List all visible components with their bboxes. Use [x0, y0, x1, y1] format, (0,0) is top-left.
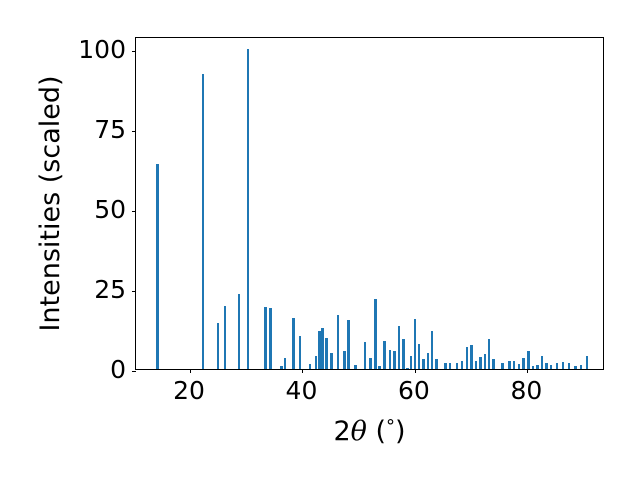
bar: [580, 365, 583, 369]
bar: [556, 363, 559, 369]
bar: [393, 351, 396, 369]
x-axis-title-prefix: 2: [333, 416, 350, 447]
bar: [410, 356, 413, 369]
bar: [325, 338, 328, 369]
bar-series-xrd: [136, 38, 603, 369]
y-tick-mark: [132, 291, 136, 292]
plot-axes: [135, 37, 604, 370]
bar: [299, 336, 302, 369]
bar: [414, 319, 417, 369]
y-tick-mark: [132, 131, 136, 132]
bar: [444, 363, 447, 369]
x-tick-mark: [190, 369, 191, 373]
bar: [406, 368, 409, 369]
bar: [354, 365, 357, 369]
bar: [501, 363, 504, 369]
bar: [398, 326, 401, 369]
y-tick-label: 0: [6, 357, 126, 382]
bar: [364, 342, 367, 369]
bar: [217, 323, 220, 369]
bar: [247, 49, 250, 369]
bar: [550, 365, 553, 369]
bar: [315, 356, 318, 369]
bar: [466, 347, 469, 369]
bar: [330, 353, 333, 369]
x-tick-label: 80: [466, 378, 586, 403]
bar: [374, 299, 377, 369]
bar: [545, 363, 548, 369]
bar: [541, 356, 544, 369]
bar: [238, 294, 241, 369]
bar: [568, 363, 571, 369]
bar: [280, 366, 283, 369]
bar: [431, 331, 434, 369]
bar: [343, 351, 346, 369]
bar: [449, 363, 452, 369]
bar: [337, 315, 340, 369]
bar: [402, 339, 405, 369]
bar: [475, 361, 478, 369]
bar: [574, 366, 577, 369]
degree-symbol: °: [386, 416, 395, 437]
bar: [470, 345, 473, 369]
bar: [156, 164, 159, 369]
bar: [513, 361, 516, 369]
bar: [318, 331, 321, 369]
x-axis-title-paren-open: (: [367, 416, 386, 447]
y-tick-mark: [132, 371, 136, 372]
bar: [518, 364, 521, 369]
bar: [522, 358, 525, 369]
x-tick-mark: [527, 369, 528, 373]
bar: [389, 350, 392, 369]
y-tick-label: 50: [6, 197, 126, 222]
theta-symbol: θ: [351, 416, 367, 447]
bar: [427, 353, 430, 369]
bar: [456, 363, 459, 369]
bar: [284, 358, 287, 369]
bar: [369, 358, 372, 369]
y-tick-mark: [132, 211, 136, 212]
bar: [536, 365, 539, 369]
bar: [292, 318, 295, 369]
bar: [461, 361, 464, 369]
x-tick-mark: [415, 369, 416, 373]
bar: [269, 308, 272, 369]
y-tick-label: 75: [6, 117, 126, 142]
x-tick-label: 60: [354, 378, 474, 403]
bar: [508, 361, 511, 369]
bar: [418, 344, 421, 369]
bar: [532, 366, 535, 369]
bar: [347, 320, 350, 369]
x-tick-label: 40: [241, 378, 361, 403]
bar: [479, 357, 482, 369]
bar: [435, 359, 438, 369]
y-tick-mark: [132, 51, 136, 52]
bar: [202, 74, 205, 369]
bar: [562, 362, 565, 369]
bar: [321, 328, 324, 369]
y-tick-label: 100: [6, 37, 126, 62]
bar: [586, 356, 589, 369]
x-tick-mark: [302, 369, 303, 373]
x-axis-title-paren-close: ): [395, 416, 406, 447]
x-tick-label: 20: [129, 378, 249, 403]
y-tick-label: 25: [6, 277, 126, 302]
bar: [264, 307, 267, 369]
bar: [527, 351, 530, 369]
bar: [309, 364, 312, 369]
bar: [488, 339, 491, 369]
bar: [224, 306, 227, 369]
x-axis-title: 2θ (°): [135, 410, 604, 449]
bar: [378, 366, 381, 369]
bar: [383, 341, 386, 369]
bar: [484, 354, 487, 369]
bar: [492, 359, 495, 369]
bar: [422, 359, 425, 369]
xrd-pattern-figure: Intensities (scaled) 2θ (°) 0255075100 2…: [0, 0, 640, 480]
